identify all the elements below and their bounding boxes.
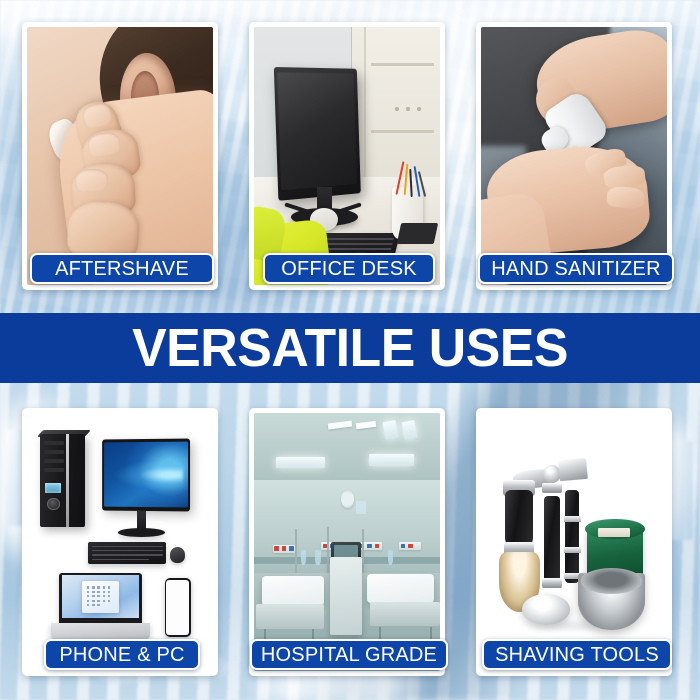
- label-hospital-grade-text: HOSPITAL GRADE: [261, 645, 437, 665]
- label-shaving-tools[interactable]: SHAVING TOOLS: [482, 639, 672, 670]
- razor-handle-icon: [544, 496, 560, 586]
- desktop-mouse-icon: [170, 547, 185, 562]
- banner-versatile-uses: VERSATILE USES: [0, 313, 700, 383]
- label-hand-sanitizer[interactable]: HAND SANITIZER: [478, 253, 674, 284]
- soap-label: [598, 528, 630, 537]
- wall-sign-icon: [356, 501, 365, 514]
- label-shaving-tools-text: SHAVING TOOLS: [495, 645, 659, 665]
- photo-office-desk: [254, 27, 440, 285]
- label-office-desk[interactable]: OFFICE DESK: [263, 253, 435, 284]
- shaving-brush-handle-icon: [505, 490, 533, 547]
- photo-shaving-tools: [481, 413, 667, 671]
- desktop-tower-icon: [40, 434, 85, 527]
- label-aftershave-text: AFTERSHAVE: [55, 259, 189, 279]
- smartphone-icon: [165, 578, 191, 637]
- desktop-monitor-icon: [103, 438, 191, 511]
- cell-shaving-tools[interactable]: SHAVING TOOLS: [476, 408, 672, 676]
- photo-hospital-grade: [254, 413, 440, 671]
- start-menu-icon: [82, 581, 119, 613]
- cell-aftershave[interactable]: AFTERSHAVE: [22, 22, 218, 290]
- label-aftershave[interactable]: AFTERSHAVE: [30, 253, 214, 284]
- cell-office-desk[interactable]: OFFICE DESK: [249, 22, 445, 290]
- safety-razor-handle-icon: [565, 490, 579, 583]
- label-office-desk-text: OFFICE DESK: [281, 259, 417, 279]
- medical-cart-icon: [330, 557, 362, 634]
- cell-hand-sanitizer[interactable]: HAND SANITIZER: [476, 22, 672, 290]
- cell-hospital-grade[interactable]: HOSPITAL GRADE: [249, 408, 445, 676]
- label-hand-sanitizer-text: HAND SANITIZER: [491, 259, 660, 279]
- monitor-icon: [274, 67, 361, 201]
- safety-razor-head-icon: [558, 458, 588, 481]
- photo-phone-pc: [27, 413, 213, 671]
- photo-aftershave: [27, 27, 213, 285]
- cell-phone-pc[interactable]: PHONE & PC: [22, 408, 218, 676]
- photo-hand-sanitizer: [481, 27, 667, 285]
- banner-title: VERSATILE USES: [132, 321, 568, 375]
- desktop-keyboard-icon: [88, 542, 166, 564]
- label-phone-pc-text: PHONE & PC: [59, 645, 184, 665]
- power-button-icon: [47, 498, 59, 510]
- stand-base-icon: [522, 594, 570, 625]
- label-hospital-grade[interactable]: HOSPITAL GRADE: [250, 639, 448, 670]
- laptop-icon: [51, 573, 150, 640]
- label-phone-pc[interactable]: PHONE & PC: [44, 639, 200, 670]
- infographic-root: AFTERSHAVE: [0, 0, 700, 700]
